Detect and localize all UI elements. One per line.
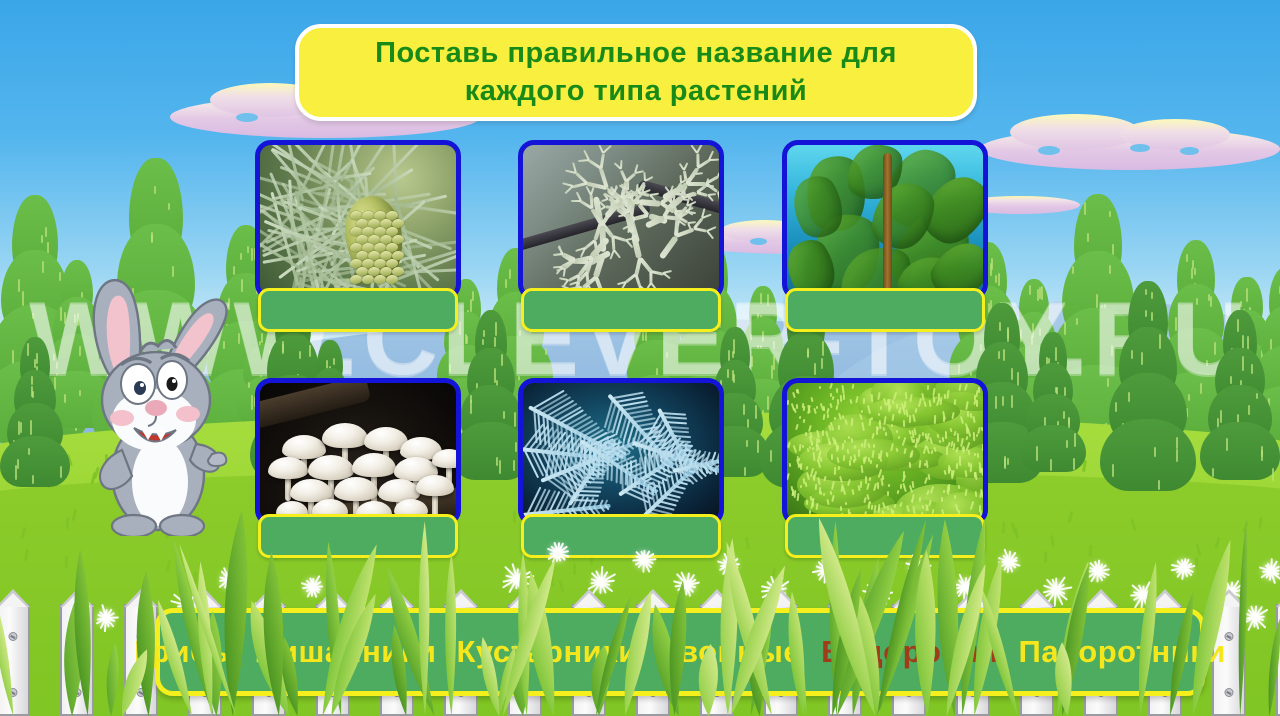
card-coniferous xyxy=(255,140,461,332)
dandelion-puff xyxy=(630,546,658,574)
dandelion-puff xyxy=(1258,558,1280,584)
conifer-tree xyxy=(1020,324,1086,464)
game-scene: WWW.CLEVER-TOY.RU xyxy=(0,0,1280,716)
card-algae xyxy=(782,140,988,332)
answer-slot-lichen[interactable] xyxy=(521,288,721,332)
conifer-tree xyxy=(1200,300,1280,470)
photo-lichen xyxy=(518,140,724,300)
answer-slot-algae[interactable] xyxy=(785,288,985,332)
instruction-panel: Поставь правильное название для каждого … xyxy=(295,24,977,121)
instruction-text: Поставь правильное название для каждого … xyxy=(375,35,897,110)
conifer-tree xyxy=(1100,268,1196,478)
card-lichen xyxy=(518,140,724,332)
dandelion-puff xyxy=(1170,554,1198,582)
photo-pine-cone xyxy=(255,140,461,300)
photo-kelp xyxy=(782,140,988,300)
instruction-line-1: Поставь правильное название для xyxy=(375,35,897,73)
answer-slot-coniferous[interactable] xyxy=(258,288,458,332)
instruction-line-2: каждого типа растений xyxy=(375,73,897,111)
conifer-tree xyxy=(0,328,70,478)
